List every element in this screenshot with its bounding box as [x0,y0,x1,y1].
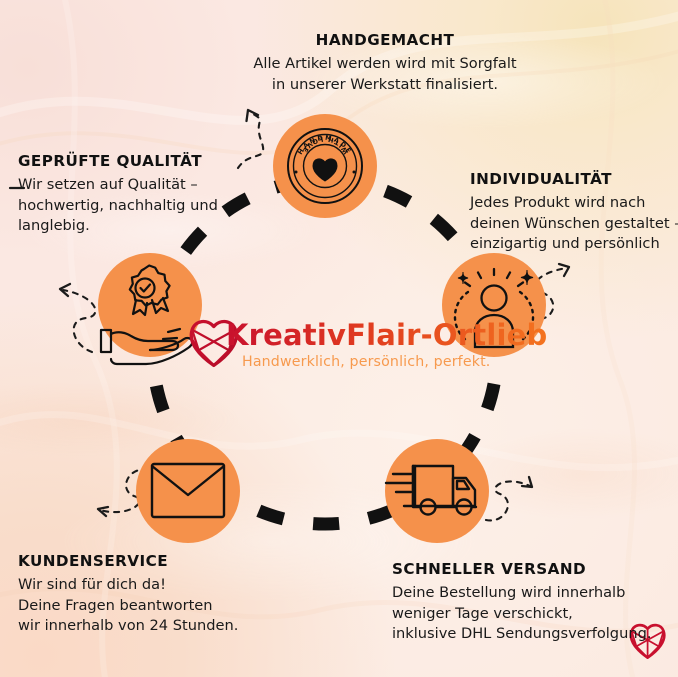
section-service: KUNDENSERVICE Wir sind für dich da! Dein… [18,552,258,637]
arrow-shipping [486,477,532,520]
brand-tagline: Handwerklich, persönlich, perfekt. [242,354,490,370]
section-line: einzigartig und persönlich [470,234,678,255]
section-line: in unserer Werkstatt finalisiert. [250,75,520,96]
section-handmade: HANDGEMACHT Alle Artikel werden wird mit… [250,31,520,95]
section-line: wir innerhalb von 24 Stunden. [18,616,258,637]
brand-logo: KreativFlair-Ortlieb Handwerklich, persö… [186,318,476,384]
section-shipping: SCHNELLER VERSAND Deine Bestellung wird … [392,560,652,645]
section-title-individual: INDIVIDUALITÄT [470,170,678,188]
section-line: Deine Bestellung wird innerhalb [392,583,652,604]
section-line: Wir sind für dich da! [18,575,258,596]
section-line: Jedes Produkt wird nach [470,193,678,214]
node-shipping[interactable] [385,439,489,543]
infographic-poster: HANDMADE WITH LOVE [0,0,678,677]
section-individual: INDIVIDUALITÄT Jedes Produkt wird nach d… [470,170,678,255]
section-line: deinen Wünschen gestaltet – [470,214,678,235]
section-quality: GEPRÜFTE QUALITÄT Wir setzen auf Qualitä… [18,152,248,237]
section-line: hochwertig, nachhaltig und [18,196,248,217]
section-line: inklusive DHL Sendungsverfolgung. [392,624,652,645]
section-line: Alle Artikel werden wird mit Sorgfalt [250,54,520,75]
section-line: langlebig. [18,216,248,237]
section-title-handmade: HANDGEMACHT [250,31,520,49]
section-line: Deine Fragen beantworten [18,596,258,617]
node-handmade[interactable]: HANDMADE WITH LOVE [273,114,377,218]
brand-name: KreativFlair-Ortlieb [226,318,547,352]
arrow-quality [60,284,95,352]
section-line: Wir setzen auf Qualität – [18,175,248,196]
section-title-service: KUNDENSERVICE [18,552,258,570]
section-title-shipping: SCHNELLER VERSAND [392,560,652,578]
section-title-quality: GEPRÜFTE QUALITÄT [18,152,248,170]
section-line: weniger Tage verschickt, [392,604,652,625]
node-service[interactable] [136,439,240,543]
